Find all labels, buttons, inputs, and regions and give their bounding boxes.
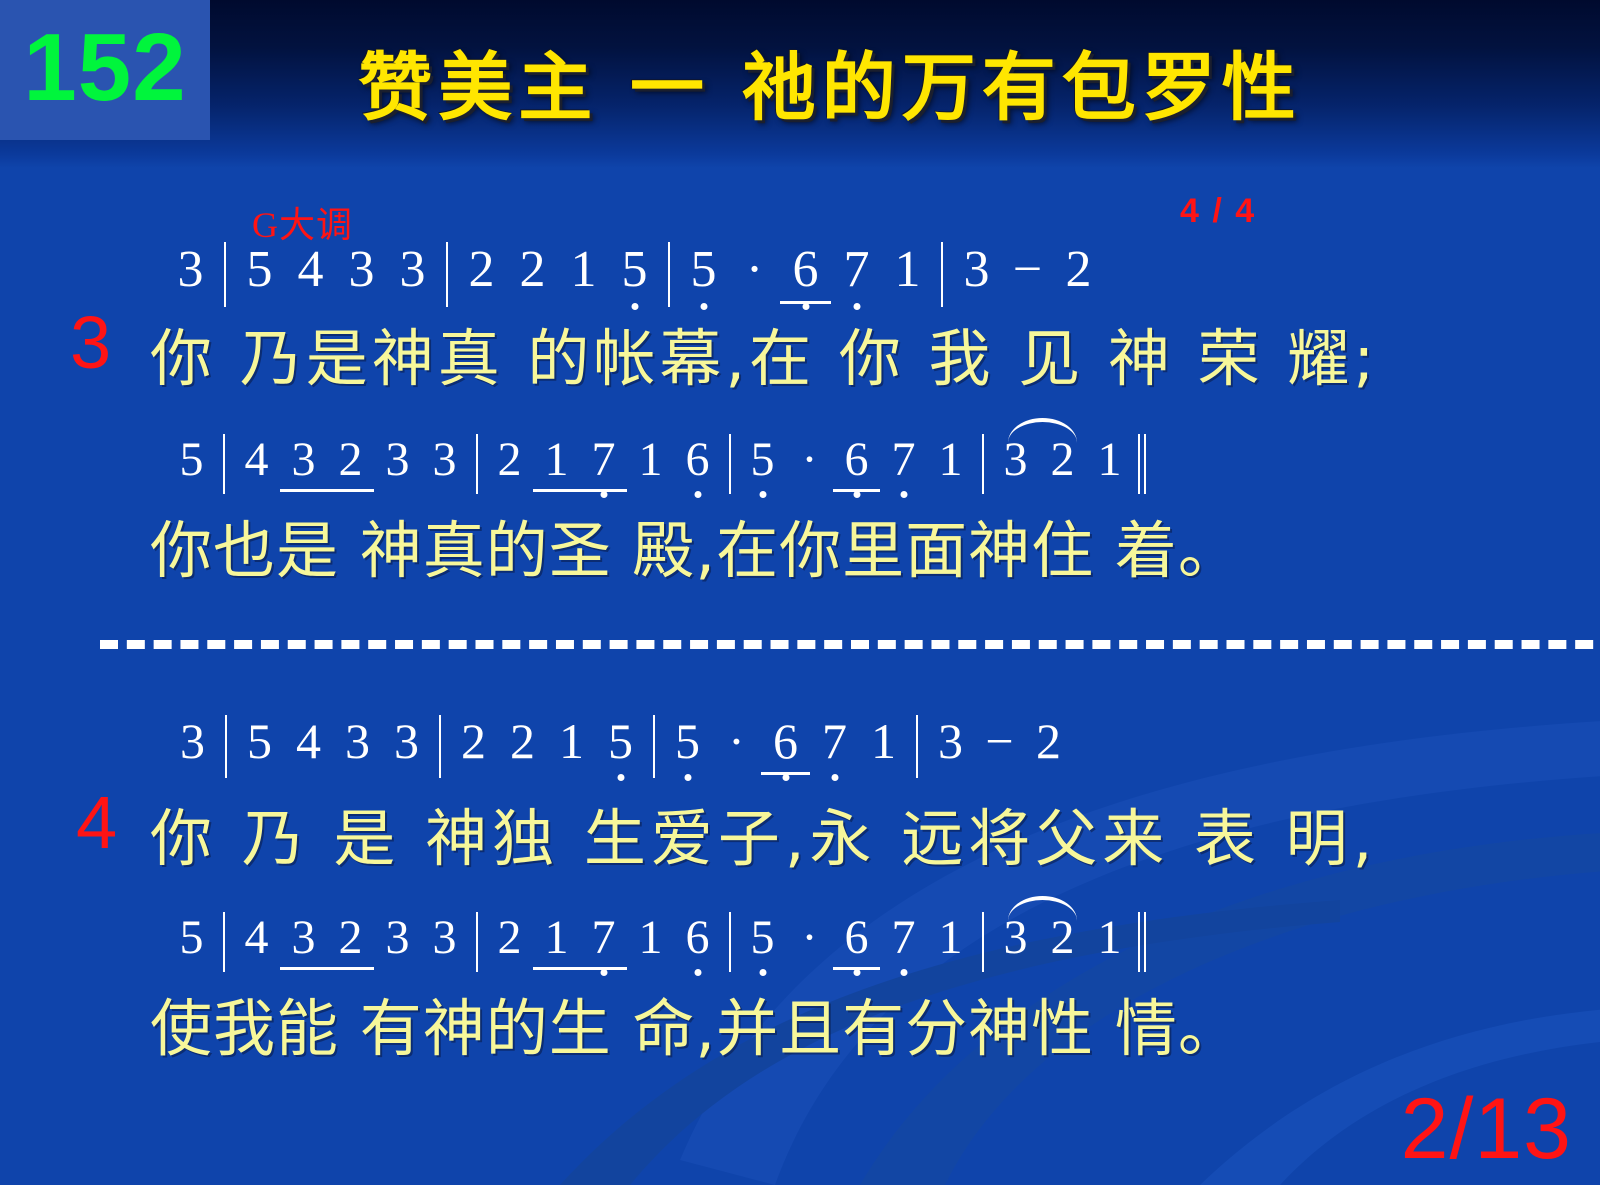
note-degree: 6 — [838, 910, 875, 965]
lyric-line-1: 你 乃是神真 的帐幕,在 你 我 见 神 荣 耀; — [150, 308, 1378, 398]
note-degree: 4 — [238, 432, 275, 487]
note-degree: 1 — [864, 712, 903, 770]
duration-dot: · — [791, 910, 828, 965]
note-degree: 3 — [387, 712, 426, 770]
duration-dash: − — [1007, 240, 1048, 299]
note-degree: 1 — [1091, 910, 1128, 965]
notation-line-3: 3543322155·6713−2 — [168, 712, 1073, 778]
note-degree: 4 — [289, 712, 328, 770]
barline — [941, 242, 943, 307]
note-degree: 5 — [173, 910, 210, 965]
stanza-number-3: 3 — [70, 300, 111, 385]
duration-dot: · — [734, 240, 775, 299]
notation-line-2: 543233217165·671321 — [168, 432, 1150, 494]
lyric-line-2: 你也是 神真的圣 殿,在你里面神住 着。 — [150, 500, 1241, 590]
note-degree: 5 — [240, 712, 279, 770]
barline — [224, 242, 226, 307]
note-degree: 7 — [836, 240, 877, 299]
note-degree: 5 — [668, 712, 707, 770]
duration-dot: · — [717, 712, 756, 770]
note-degree: 2 — [1029, 712, 1068, 770]
note-degree: 7 — [885, 910, 922, 965]
note-degree: 2 — [512, 240, 553, 299]
note-degree: 5 — [239, 240, 280, 299]
note-degree: 1 — [538, 432, 575, 487]
note-degree: 5 — [601, 712, 640, 770]
note-degree: 4 — [290, 240, 331, 299]
duration-dot: · — [791, 432, 828, 487]
beamed-note-group: 17 — [533, 910, 627, 970]
beamed-note-group: 6 — [761, 712, 810, 775]
note-degree: 1 — [887, 240, 928, 299]
note-degree: 6 — [838, 432, 875, 487]
note-degree: 7 — [815, 712, 854, 770]
note-degree: 2 — [503, 712, 542, 770]
note-degree: 3 — [997, 432, 1034, 487]
note-degree: 3 — [173, 712, 212, 770]
double-barline — [1138, 432, 1150, 494]
beamed-note-group: 6 — [780, 240, 831, 304]
note-degree: 5 — [744, 910, 781, 965]
barline — [476, 912, 478, 972]
note-degree: 1 — [632, 910, 669, 965]
hymn-slide: 152 赞美主 一 祂的万有包罗性 G大调 4 / 4 3 3543322155… — [0, 0, 1600, 1185]
note-degree: 6 — [679, 910, 716, 965]
hymn-number-badge: 152 — [0, 0, 210, 140]
beamed-note-group: 6 — [833, 432, 880, 492]
note-degree: 5 — [614, 240, 655, 299]
note-degree: 2 — [1058, 240, 1099, 299]
note-degree: 1 — [932, 910, 969, 965]
beamed-note-group: 6 — [833, 910, 880, 970]
barline — [982, 434, 984, 494]
note-degree: 3 — [997, 910, 1034, 965]
note-degree: 1 — [1091, 432, 1128, 487]
note-degree: 5 — [683, 240, 724, 299]
notation-line-1: 3543322155·6713−2 — [165, 240, 1104, 307]
beamed-note-group: 32 — [280, 432, 374, 492]
barline — [729, 434, 731, 494]
page-indicator: 2/13 — [1401, 1080, 1572, 1179]
note-degree: 4 — [238, 910, 275, 965]
note-degree: 2 — [461, 240, 502, 299]
lyric-line-4: 使我能 有神的生 命,并且有分神性 情。 — [150, 978, 1241, 1068]
note-degree: 2 — [1044, 432, 1081, 487]
barline — [982, 912, 984, 972]
note-degree: 2 — [491, 432, 528, 487]
barline — [476, 434, 478, 494]
duration-dash: − — [980, 712, 1019, 770]
note-degree: 3 — [170, 240, 211, 299]
barline — [446, 242, 448, 307]
barline — [668, 242, 670, 307]
barline — [439, 715, 441, 778]
note-degree: 1 — [632, 432, 669, 487]
section-divider — [100, 640, 1600, 649]
note-degree: 3 — [341, 240, 382, 299]
note-degree: 2 — [491, 910, 528, 965]
note-degree: 3 — [379, 910, 416, 965]
barline — [916, 715, 918, 778]
note-degree: 3 — [392, 240, 433, 299]
note-degree: 1 — [552, 712, 591, 770]
note-degree: 1 — [932, 432, 969, 487]
note-degree: 6 — [785, 240, 826, 299]
note-degree: 3 — [426, 910, 463, 965]
barline — [653, 715, 655, 778]
hymn-number: 152 — [0, 0, 210, 138]
beamed-note-group: 17 — [533, 432, 627, 492]
lyric-line-3: 你 乃 是 神独 生爱子,永 远将父来 表 明, — [150, 788, 1377, 878]
page-title: 赞美主 一 祂的万有包罗性 — [280, 46, 1380, 130]
note-degree: 3 — [285, 432, 322, 487]
barline — [223, 912, 225, 972]
note-degree: 6 — [679, 432, 716, 487]
note-degree: 3 — [338, 712, 377, 770]
note-degree: 2 — [1044, 910, 1081, 965]
beamed-note-group: 32 — [280, 910, 374, 970]
note-degree: 2 — [332, 910, 369, 965]
note-degree: 5 — [744, 432, 781, 487]
double-barline — [1138, 910, 1150, 972]
notation-line-4: 543233217165·671321 — [168, 910, 1150, 972]
note-degree: 7 — [885, 432, 922, 487]
note-degree: 7 — [585, 432, 622, 487]
note-degree: 3 — [285, 910, 322, 965]
note-degree: 3 — [931, 712, 970, 770]
barline — [225, 715, 227, 778]
barline — [729, 912, 731, 972]
note-degree: 5 — [173, 432, 210, 487]
note-degree: 7 — [585, 910, 622, 965]
note-degree: 1 — [538, 910, 575, 965]
stanza-number-4: 4 — [76, 780, 117, 865]
note-degree: 6 — [766, 712, 805, 770]
note-degree: 3 — [379, 432, 416, 487]
note-degree: 3 — [956, 240, 997, 299]
note-degree: 2 — [454, 712, 493, 770]
note-degree: 2 — [332, 432, 369, 487]
note-degree: 3 — [426, 432, 463, 487]
time-signature-label: 4 / 4 — [1180, 192, 1256, 231]
note-degree: 1 — [563, 240, 604, 299]
barline — [223, 434, 225, 494]
